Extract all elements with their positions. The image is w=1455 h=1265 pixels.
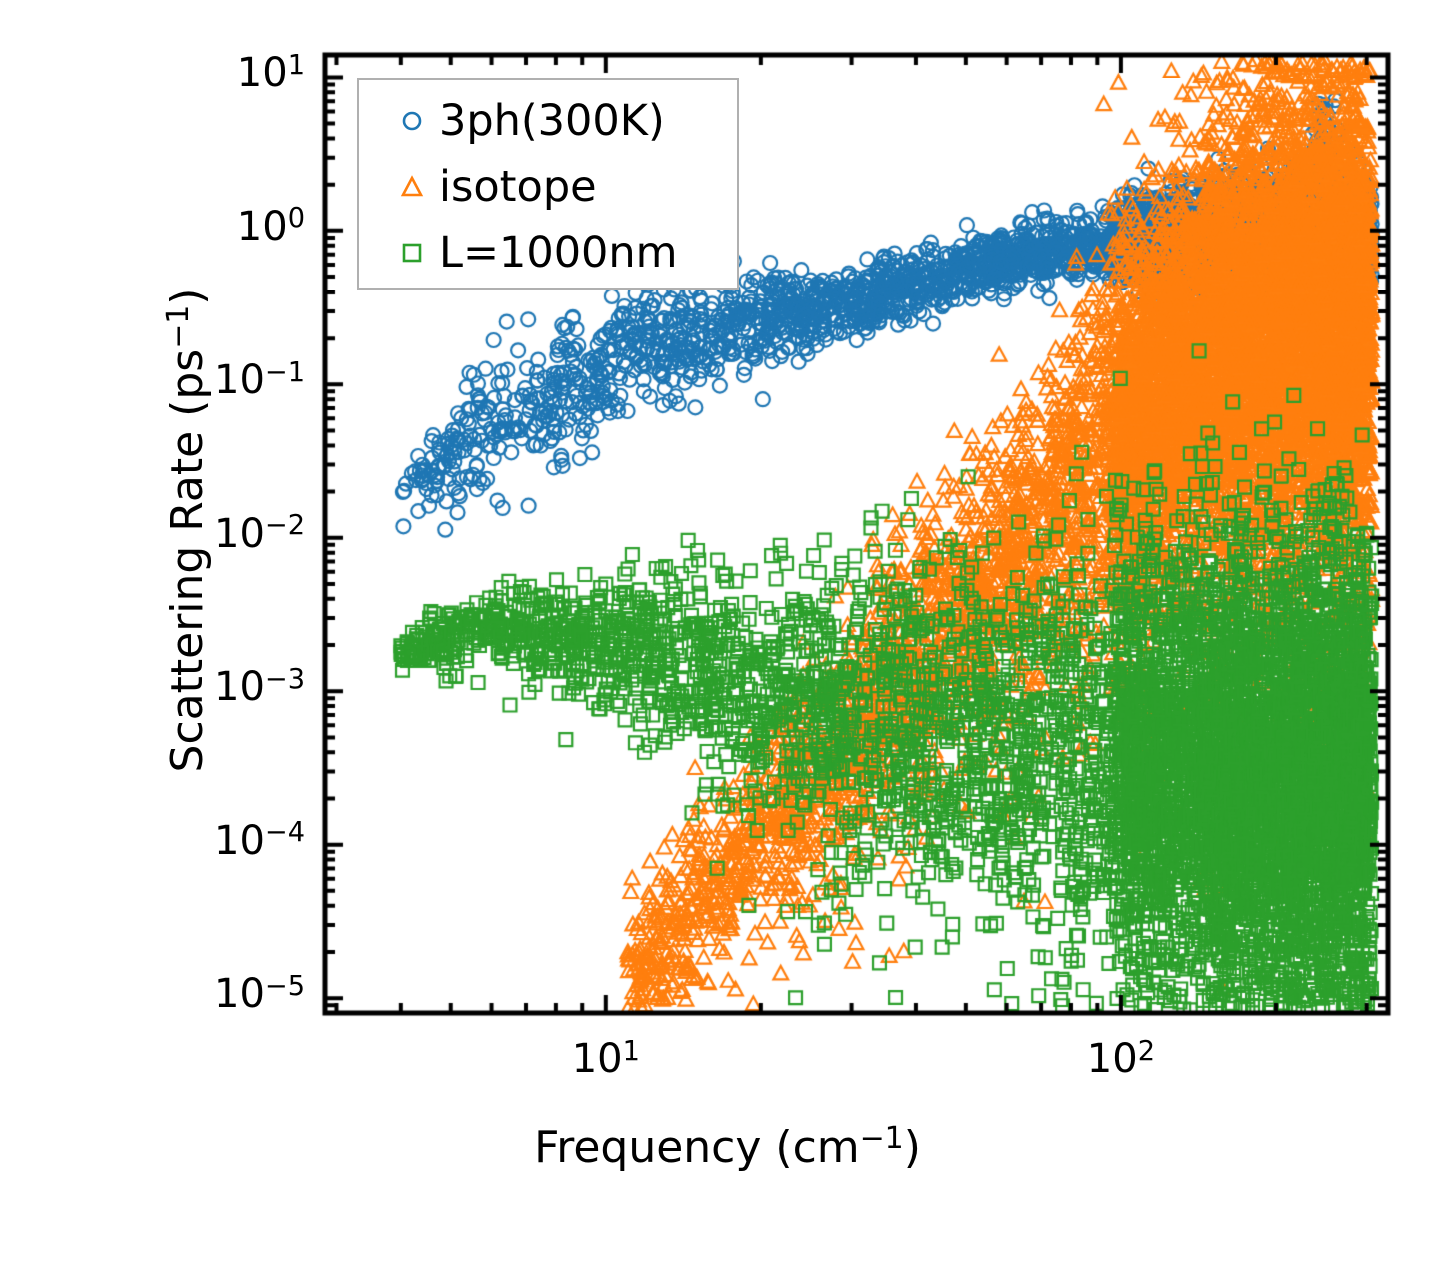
y-tick-label: 101 <box>237 53 305 93</box>
y-tick-label: 10−1 <box>214 360 305 400</box>
figure-canvas: 10110010−110−210−310−410−5 101102 Freque… <box>0 0 1455 1265</box>
y-tick-label: 10−3 <box>214 667 305 707</box>
legend-marker-triangle-icon <box>385 174 439 200</box>
legend-label-3ph: 3ph(300K) <box>439 100 665 143</box>
y-tick-label: 10−5 <box>214 974 305 1014</box>
legend-entry-boundary[interactable]: L=1000nm <box>359 220 737 286</box>
x-axis-label-base: Frequency (cm <box>534 1122 860 1173</box>
y-tick-label: 10−4 <box>214 821 305 861</box>
legend-label-isotope: isotope <box>439 166 597 209</box>
y-tick-label: 10−2 <box>214 514 305 554</box>
x-axis-label: Frequency (cm−1) <box>0 1126 1455 1170</box>
legend-marker-square-icon <box>385 240 439 266</box>
y-tick-label: 100 <box>237 207 305 247</box>
legend-box[interactable]: 3ph(300K) isotope L=1000nm <box>357 78 739 290</box>
x-tick-label: 102 <box>1031 1039 1211 1079</box>
legend-entry-isotope[interactable]: isotope <box>359 154 737 220</box>
x-tick-label: 101 <box>516 1039 696 1079</box>
legend-label-boundary: L=1000nm <box>439 232 678 275</box>
x-axis-label-close: ) <box>904 1122 921 1173</box>
legend-entry-3ph[interactable]: 3ph(300K) <box>359 88 737 154</box>
x-axis-label-exponent: −1 <box>860 1121 904 1156</box>
legend-marker-circle-icon <box>385 108 439 134</box>
